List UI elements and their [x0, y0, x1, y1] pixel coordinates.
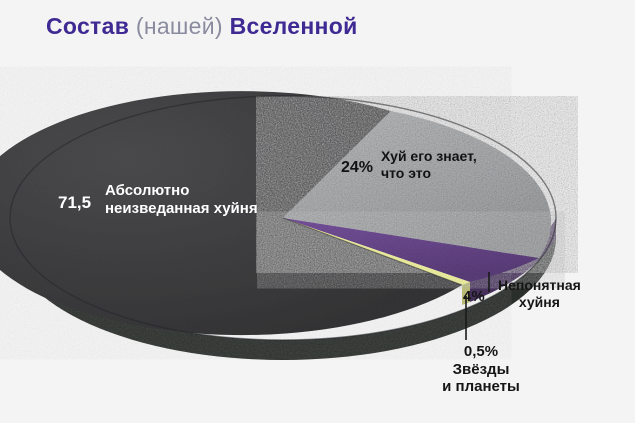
slice-label-unknown-matter-line2: неизведанная хуйня [105, 200, 258, 218]
slice-label-dark-energy: Хуй его знает, что это [381, 148, 477, 181]
infographic-canvas: Состав (нашей) Вселенной [0, 0, 635, 423]
slice-label-unknown-matter-line1: Абсолютно [105, 182, 258, 200]
slice-label-dark-matter-line2: хуйня [498, 294, 581, 311]
slice-value-stars-planets: 0,5% [426, 343, 536, 361]
slice-label-stars-planets-line1: Звёзды [426, 361, 536, 379]
slice-label-dark-matter: Непонятная хуйня [498, 277, 581, 310]
slice-value-dark-matter: 4% [463, 288, 485, 306]
slice-label-dark-energy-line1: Хуй его знает, [381, 148, 477, 165]
slice-label-dark-matter-line1: Непонятная [498, 277, 581, 294]
slice-label-dark-energy-line2: что это [381, 165, 477, 182]
slice-value-dark-energy: 24% [341, 159, 373, 178]
slice-label-unknown-matter: Абсолютно неизведанная хуйня [105, 182, 258, 217]
slice-value-unknown-matter: 71,5 [58, 193, 91, 213]
slice-label-stars-planets: 0,5% Звёзды и планеты [426, 343, 536, 396]
pie-chart [0, 0, 635, 423]
slice-label-stars-planets-line2: и планеты [426, 378, 536, 396]
